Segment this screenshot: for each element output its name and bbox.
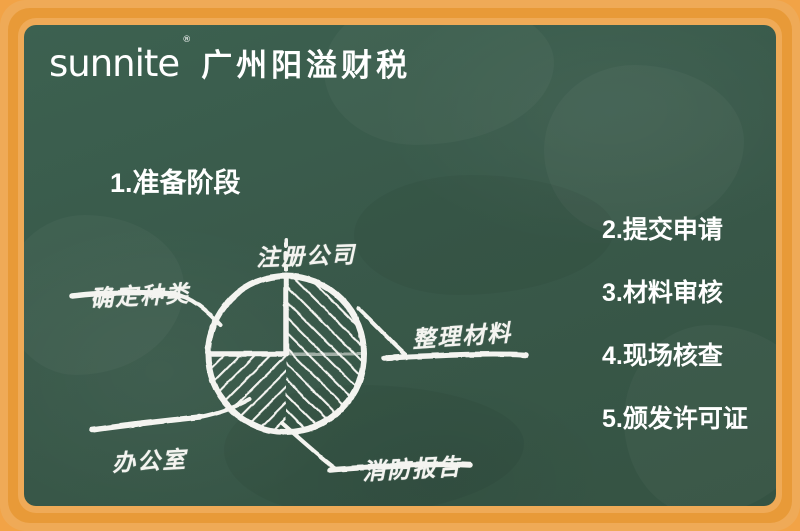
chalk-label-register-company: 注册公司 xyxy=(255,235,356,272)
chalk-label-fire-report: 消防报告 xyxy=(361,447,463,486)
chalkboard: sunnite ® 广州阳溢财税 1.准备阶段 2.提交申请 3.材料审核 4.… xyxy=(24,25,776,506)
step-item-2[interactable]: 2.提交申请 xyxy=(602,218,748,243)
step-item-3[interactable]: 3.材料审核 xyxy=(602,281,748,306)
chalk-chart-group xyxy=(72,240,526,470)
sunnite-wordmark-icon: sunnite ® xyxy=(49,45,179,82)
pie-slice-bottom-left xyxy=(208,354,286,432)
chalk-label-determine-type: 确定种类 xyxy=(89,274,191,313)
logo-text: sunnite xyxy=(49,42,179,85)
pie-slice-right-half xyxy=(286,276,364,432)
registered-trademark-icon: ® xyxy=(182,36,190,45)
leader-office xyxy=(92,399,250,430)
pie-outline xyxy=(208,276,364,432)
texture-blob xyxy=(324,25,554,145)
texture-blob xyxy=(354,175,614,295)
chalk-label-organize-materials: 整理材料 xyxy=(411,314,513,355)
company-name: 广州阳溢财税 xyxy=(201,51,411,82)
texture-blob xyxy=(544,65,744,235)
brand-logo[interactable]: sunnite ® 广州阳溢财税 xyxy=(49,45,411,82)
stage-title: 1.准备阶段 xyxy=(110,161,241,200)
texture-blob xyxy=(224,385,524,506)
step-item-5[interactable]: 5.颁发许可证 xyxy=(602,407,748,432)
slide-canvas: sunnite ® 广州阳溢财税 1.准备阶段 2.提交申请 3.材料审核 4.… xyxy=(0,0,800,531)
step-list: 2.提交申请 3.材料审核 4.现场核查 5.颁发许可证 xyxy=(602,218,748,432)
chalk-label-office: 办公室 xyxy=(111,440,188,478)
step-item-4[interactable]: 4.现场核查 xyxy=(602,344,748,369)
